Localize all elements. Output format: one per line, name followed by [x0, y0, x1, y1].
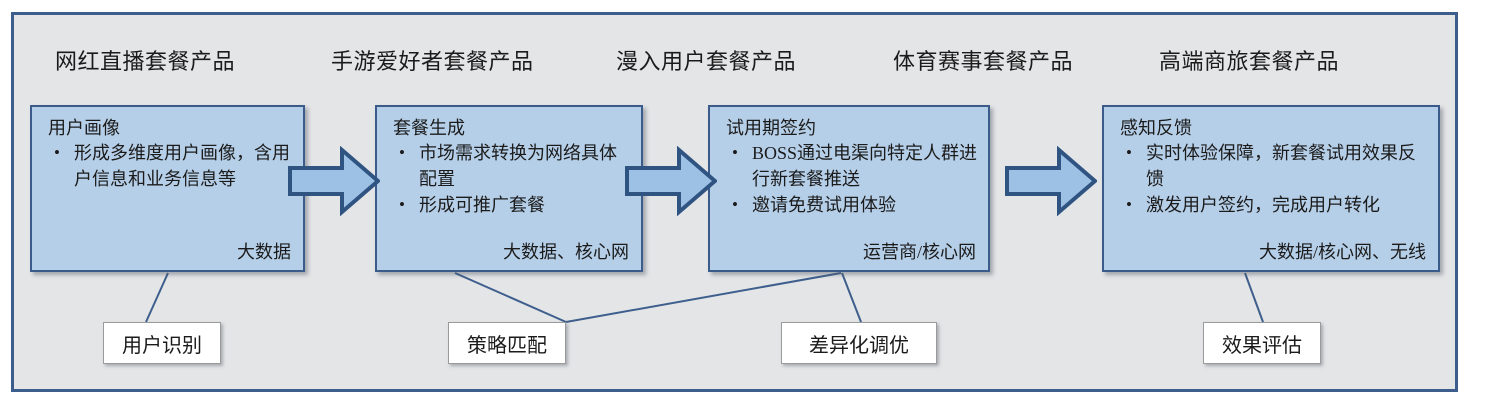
stage-bullet-list: 市场需求转换为网络具体配置 形成可推广套餐	[393, 140, 633, 218]
stage-bullet: BOSS通过电渠向特定人群进行新套餐推送	[726, 140, 980, 192]
stage-footer-tag: 运营商/核心网	[863, 238, 976, 264]
connector-stage2-to-策略匹配	[455, 273, 566, 322]
connector-stage4-to-效果评估	[1245, 273, 1263, 322]
stage-box-package-generation[interactable]: 套餐生成 市场需求转换为网络具体配置 形成可推广套餐 大数据、核心网	[375, 105, 643, 272]
stage-bullet: 邀请免费试用体验	[726, 192, 980, 218]
callout-differentiated-tuning[interactable]: 差异化调优	[781, 322, 937, 364]
stage-bullet: 实时体验保障，新套餐试用效果反馈	[1120, 140, 1430, 192]
stage-footer-tag: 大数据/核心网、无线	[1259, 238, 1426, 264]
connector-stage1-to-用户识别	[146, 273, 168, 322]
stage-box-trial-signup[interactable]: 试用期签约 BOSS通过电渠向特定人群进行新套餐推送 邀请免费试用体验 运营商/…	[708, 105, 990, 272]
connector-stage3-to-差异化调优	[842, 273, 861, 322]
stage-title: 套餐生成	[393, 114, 465, 140]
stage-bullet: 形成可推广套餐	[393, 192, 633, 218]
stage-bullet: 市场需求转换为网络具体配置	[393, 140, 633, 192]
stage-footer-tag: 大数据	[237, 238, 291, 264]
callout-strategy-matching[interactable]: 策略匹配	[448, 322, 566, 364]
stage-bullet: 形成多维度用户画像，含用户信息和业务信息等	[48, 140, 295, 192]
arrow-right-icon-3	[1005, 146, 1097, 216]
stage-bullet-list: 形成多维度用户画像，含用户信息和业务信息等	[48, 140, 295, 192]
stage-bullet: 激发用户签约，完成用户转化	[1120, 192, 1430, 218]
stage-bullet-list: 实时体验保障，新套餐试用效果反馈 激发用户签约，完成用户转化	[1120, 140, 1430, 218]
stage-title: 感知反馈	[1120, 114, 1192, 140]
diagram-canvas: 网红直播套餐产品 手游爱好者套餐产品 漫入用户套餐产品 体育赛事套餐产品 高端商…	[0, 0, 1492, 408]
arrow-right-icon-2	[625, 146, 717, 216]
stage-title: 试用期签约	[726, 114, 816, 140]
stage-title: 用户画像	[48, 114, 120, 140]
arrow-right-icon-1	[288, 146, 380, 216]
stage-box-perception-feedback[interactable]: 感知反馈 实时体验保障，新套餐试用效果反馈 激发用户签约，完成用户转化 大数据/…	[1102, 105, 1440, 272]
callout-user-identification[interactable]: 用户识别	[103, 322, 221, 364]
callout-effect-evaluation[interactable]: 效果评估	[1203, 322, 1321, 364]
stage-box-user-profile[interactable]: 用户画像 形成多维度用户画像，含用户信息和业务信息等 大数据	[30, 105, 305, 272]
stage-footer-tag: 大数据、核心网	[503, 238, 629, 264]
connector-stage3-to-策略匹配	[566, 273, 841, 322]
stage-bullet-list: BOSS通过电渠向特定人群进行新套餐推送 邀请免费试用体验	[726, 140, 980, 218]
